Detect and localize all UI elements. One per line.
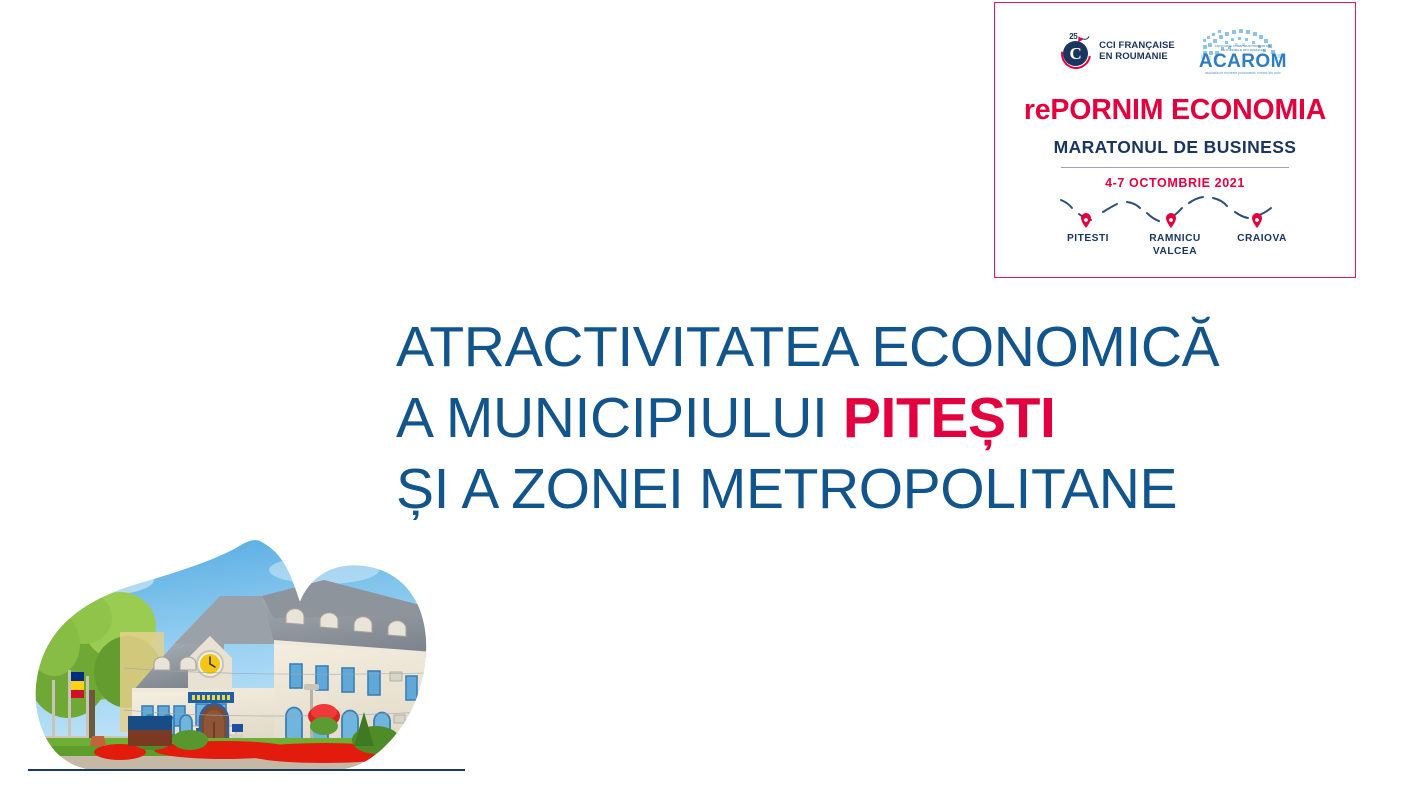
- map-pin-icon: [1252, 213, 1262, 228]
- map-pin-icon: [1166, 213, 1176, 228]
- event-badge: 25 C CCI FRANÇAISE EN ROUMANIE: [994, 2, 1356, 278]
- slide-baseline-rule: [28, 769, 465, 771]
- heading-line-1: ATRACTIVITATEA ECONOMICĂ: [396, 312, 1276, 383]
- cci-logo-line-2: EN ROUMANIE: [1099, 51, 1175, 63]
- acarom-logo: ASOCIATIA CONSTRUCTORILOR DE AUTOMOBILE …: [1197, 26, 1289, 76]
- badge-route-map: [1041, 194, 1309, 232]
- cci-mark-icon: 25 C: [1061, 32, 1095, 70]
- cci-monogram-icon: C: [1063, 41, 1088, 66]
- acarom-wordmark: ACAROM: [1199, 52, 1287, 71]
- city-label-craiova: CRAIOVA: [1217, 233, 1307, 246]
- badge-logo-row: 25 C CCI FRANÇAISE EN ROUMANIE: [1061, 25, 1289, 77]
- pitesti-city-hall-photo: [24, 540, 474, 772]
- map-pin-icon: [1081, 213, 1091, 228]
- badge-subtitle: MARATONUL DE BUSINESS: [1054, 137, 1297, 158]
- city-label-ramnicu-valcea: RAMNICU VALCEA: [1130, 233, 1220, 258]
- page-title: ATRACTIVITATEA ECONOMICĂ A MUNICIPIULUI …: [396, 312, 1276, 525]
- badge-title: rePORNIM ECONOMIA: [1024, 95, 1326, 125]
- heading-line-2: A MUNICIPIULUI PITEȘTI: [396, 383, 1276, 454]
- presentation-slide: 25 C CCI FRANÇAISE EN ROUMANIE: [0, 0, 1401, 801]
- cci-logo-text: CCI FRANÇAISE EN ROUMANIE: [1099, 40, 1175, 63]
- badge-date: 4-7 OCTOMBRIE 2021: [1105, 176, 1245, 190]
- cci-francaise-en-roumanie-logo: 25 C CCI FRANÇAISE EN ROUMANIE: [1061, 32, 1175, 70]
- heading-line-3: ȘI A ZONEI METROPOLITANE: [396, 454, 1276, 525]
- acarom-sub-text: asociatia ce reuneste producatorii roman…: [1205, 71, 1281, 76]
- heading-line-2-accent: PITEȘTI: [843, 386, 1056, 450]
- cci-logo-line-1: CCI FRANÇAISE: [1099, 40, 1175, 52]
- city-label-pitesti: PITESTI: [1043, 233, 1133, 246]
- badge-city-labels: PITESTI RAMNICU VALCEA CRAIOVA: [1030, 233, 1320, 269]
- heading-line-2-prefix: A MUNICIPIULUI: [396, 386, 843, 450]
- badge-divider: [1061, 167, 1289, 168]
